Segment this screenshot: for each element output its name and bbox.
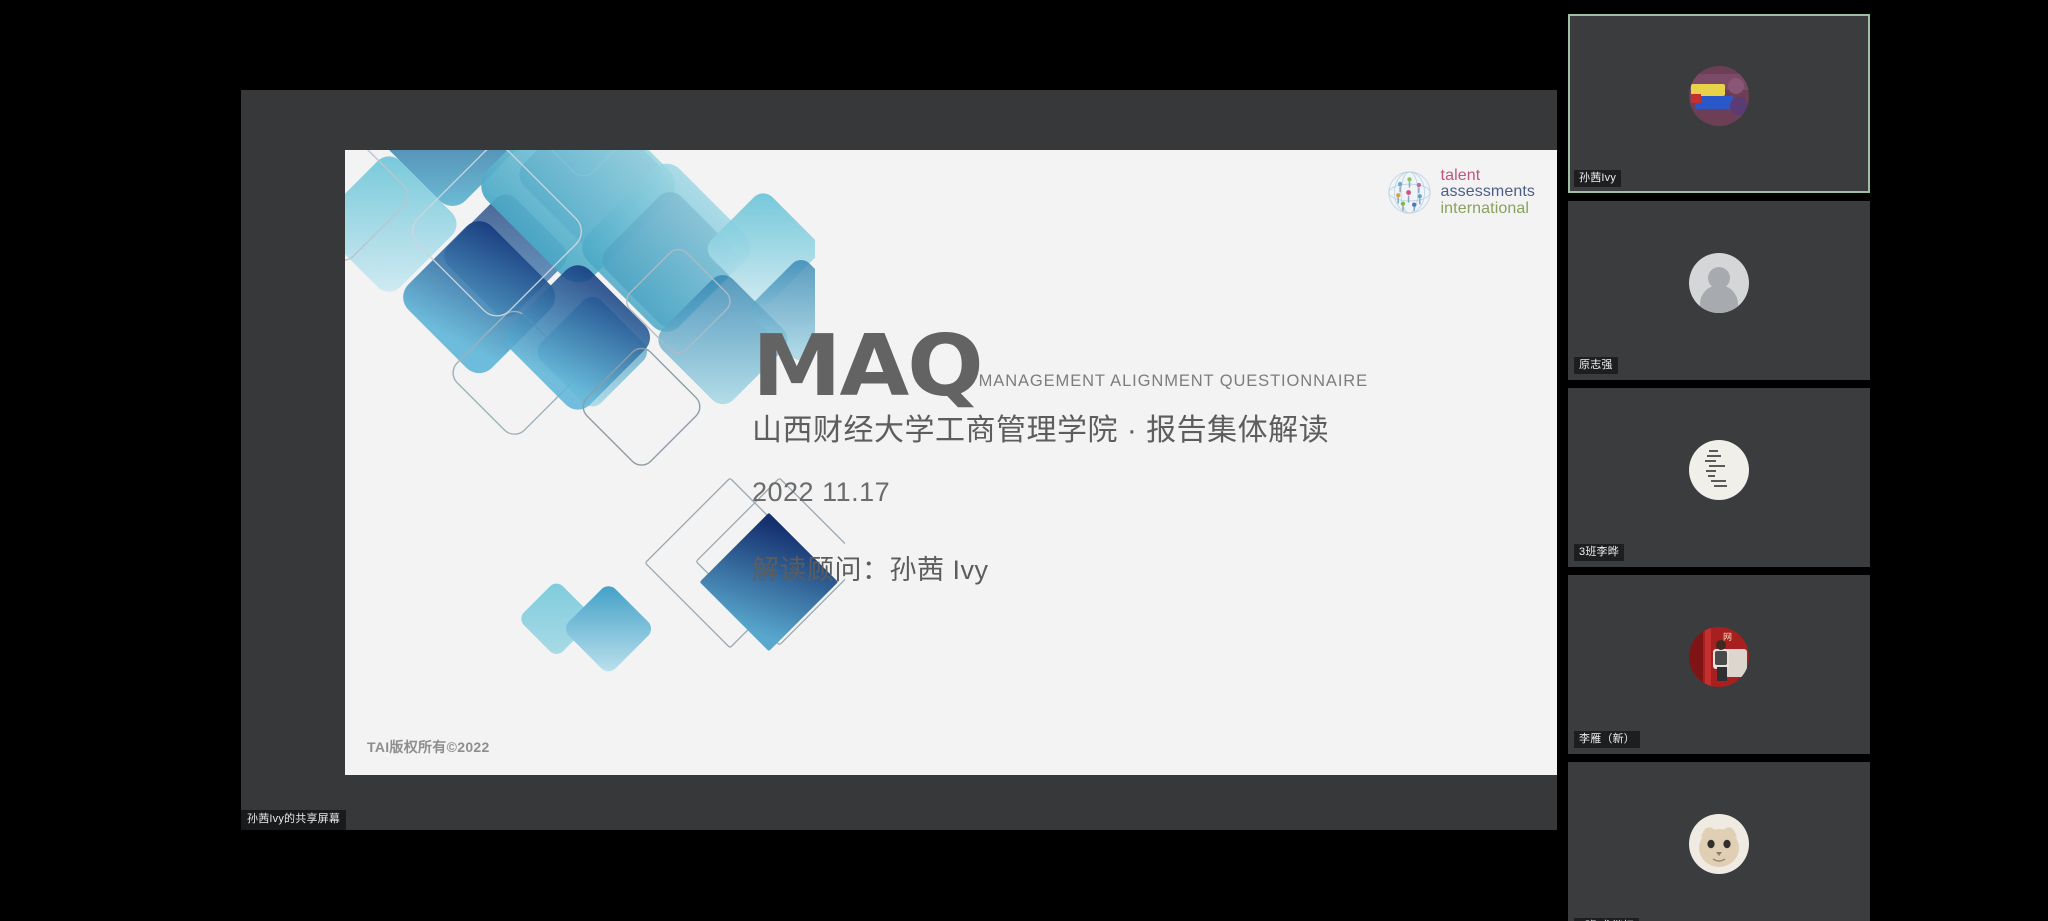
- slide-date: 2022 11.17: [752, 477, 1512, 508]
- participant-tile[interactable]: 网 李雁（新）: [1568, 575, 1870, 754]
- slide-copyright: TAI版权所有©2022: [367, 737, 490, 757]
- default-person-icon: [1689, 253, 1749, 313]
- logo-line-talent: talent: [1441, 168, 1535, 184]
- participant-tile[interactable]: 孙茜Ivy: [1568, 14, 1870, 193]
- participant-filmstrip[interactable]: 孙茜Ivy 原志强 3班李晔: [1568, 14, 1870, 921]
- avatar: [1689, 66, 1749, 126]
- avatar: 网: [1689, 627, 1749, 687]
- slide-text-block: MAQ MANAGEMENT ALIGNMENT QUESTIONNAIRE 山…: [752, 330, 1512, 587]
- participant-name: 3班李晔: [1574, 544, 1624, 561]
- shared-screen-stage[interactable]: talent assessments international MAQ MAN…: [241, 90, 1557, 830]
- slide-title-maq: MAQ: [752, 330, 982, 403]
- participant-tile[interactable]: 3班李晔: [1568, 388, 1870, 567]
- slide-consultant: 解读顾问：孙茜 Ivy: [752, 548, 1512, 587]
- svg-text:网: 网: [1723, 632, 1732, 643]
- logo-line-international: international: [1441, 201, 1535, 217]
- zoom-meeting-screen: talent assessments international MAQ MAN…: [0, 0, 2048, 921]
- participant-name: 孙茜Ivy: [1574, 170, 1621, 187]
- logo-line-assessments: assessments: [1441, 184, 1535, 200]
- slide-subtitle: MANAGEMENT ALIGNMENT QUESTIONNAIRE: [979, 372, 1368, 403]
- participant-tile[interactable]: 3班-尤继权: [1568, 762, 1870, 921]
- avatar: [1689, 253, 1749, 313]
- avatar: [1689, 814, 1749, 874]
- tai-logo: talent assessments international: [1387, 168, 1535, 217]
- globe-icon: [1387, 170, 1432, 215]
- screen-share-label: 孙茜Ivy的共享屏幕: [241, 810, 346, 830]
- presentation-slide: talent assessments international MAQ MAN…: [345, 150, 1557, 775]
- participant-name: 李雁（新）: [1574, 731, 1640, 748]
- avatar: [1689, 440, 1749, 500]
- participant-name: 原志强: [1574, 357, 1618, 374]
- participant-tile[interactable]: 原志强: [1568, 201, 1870, 380]
